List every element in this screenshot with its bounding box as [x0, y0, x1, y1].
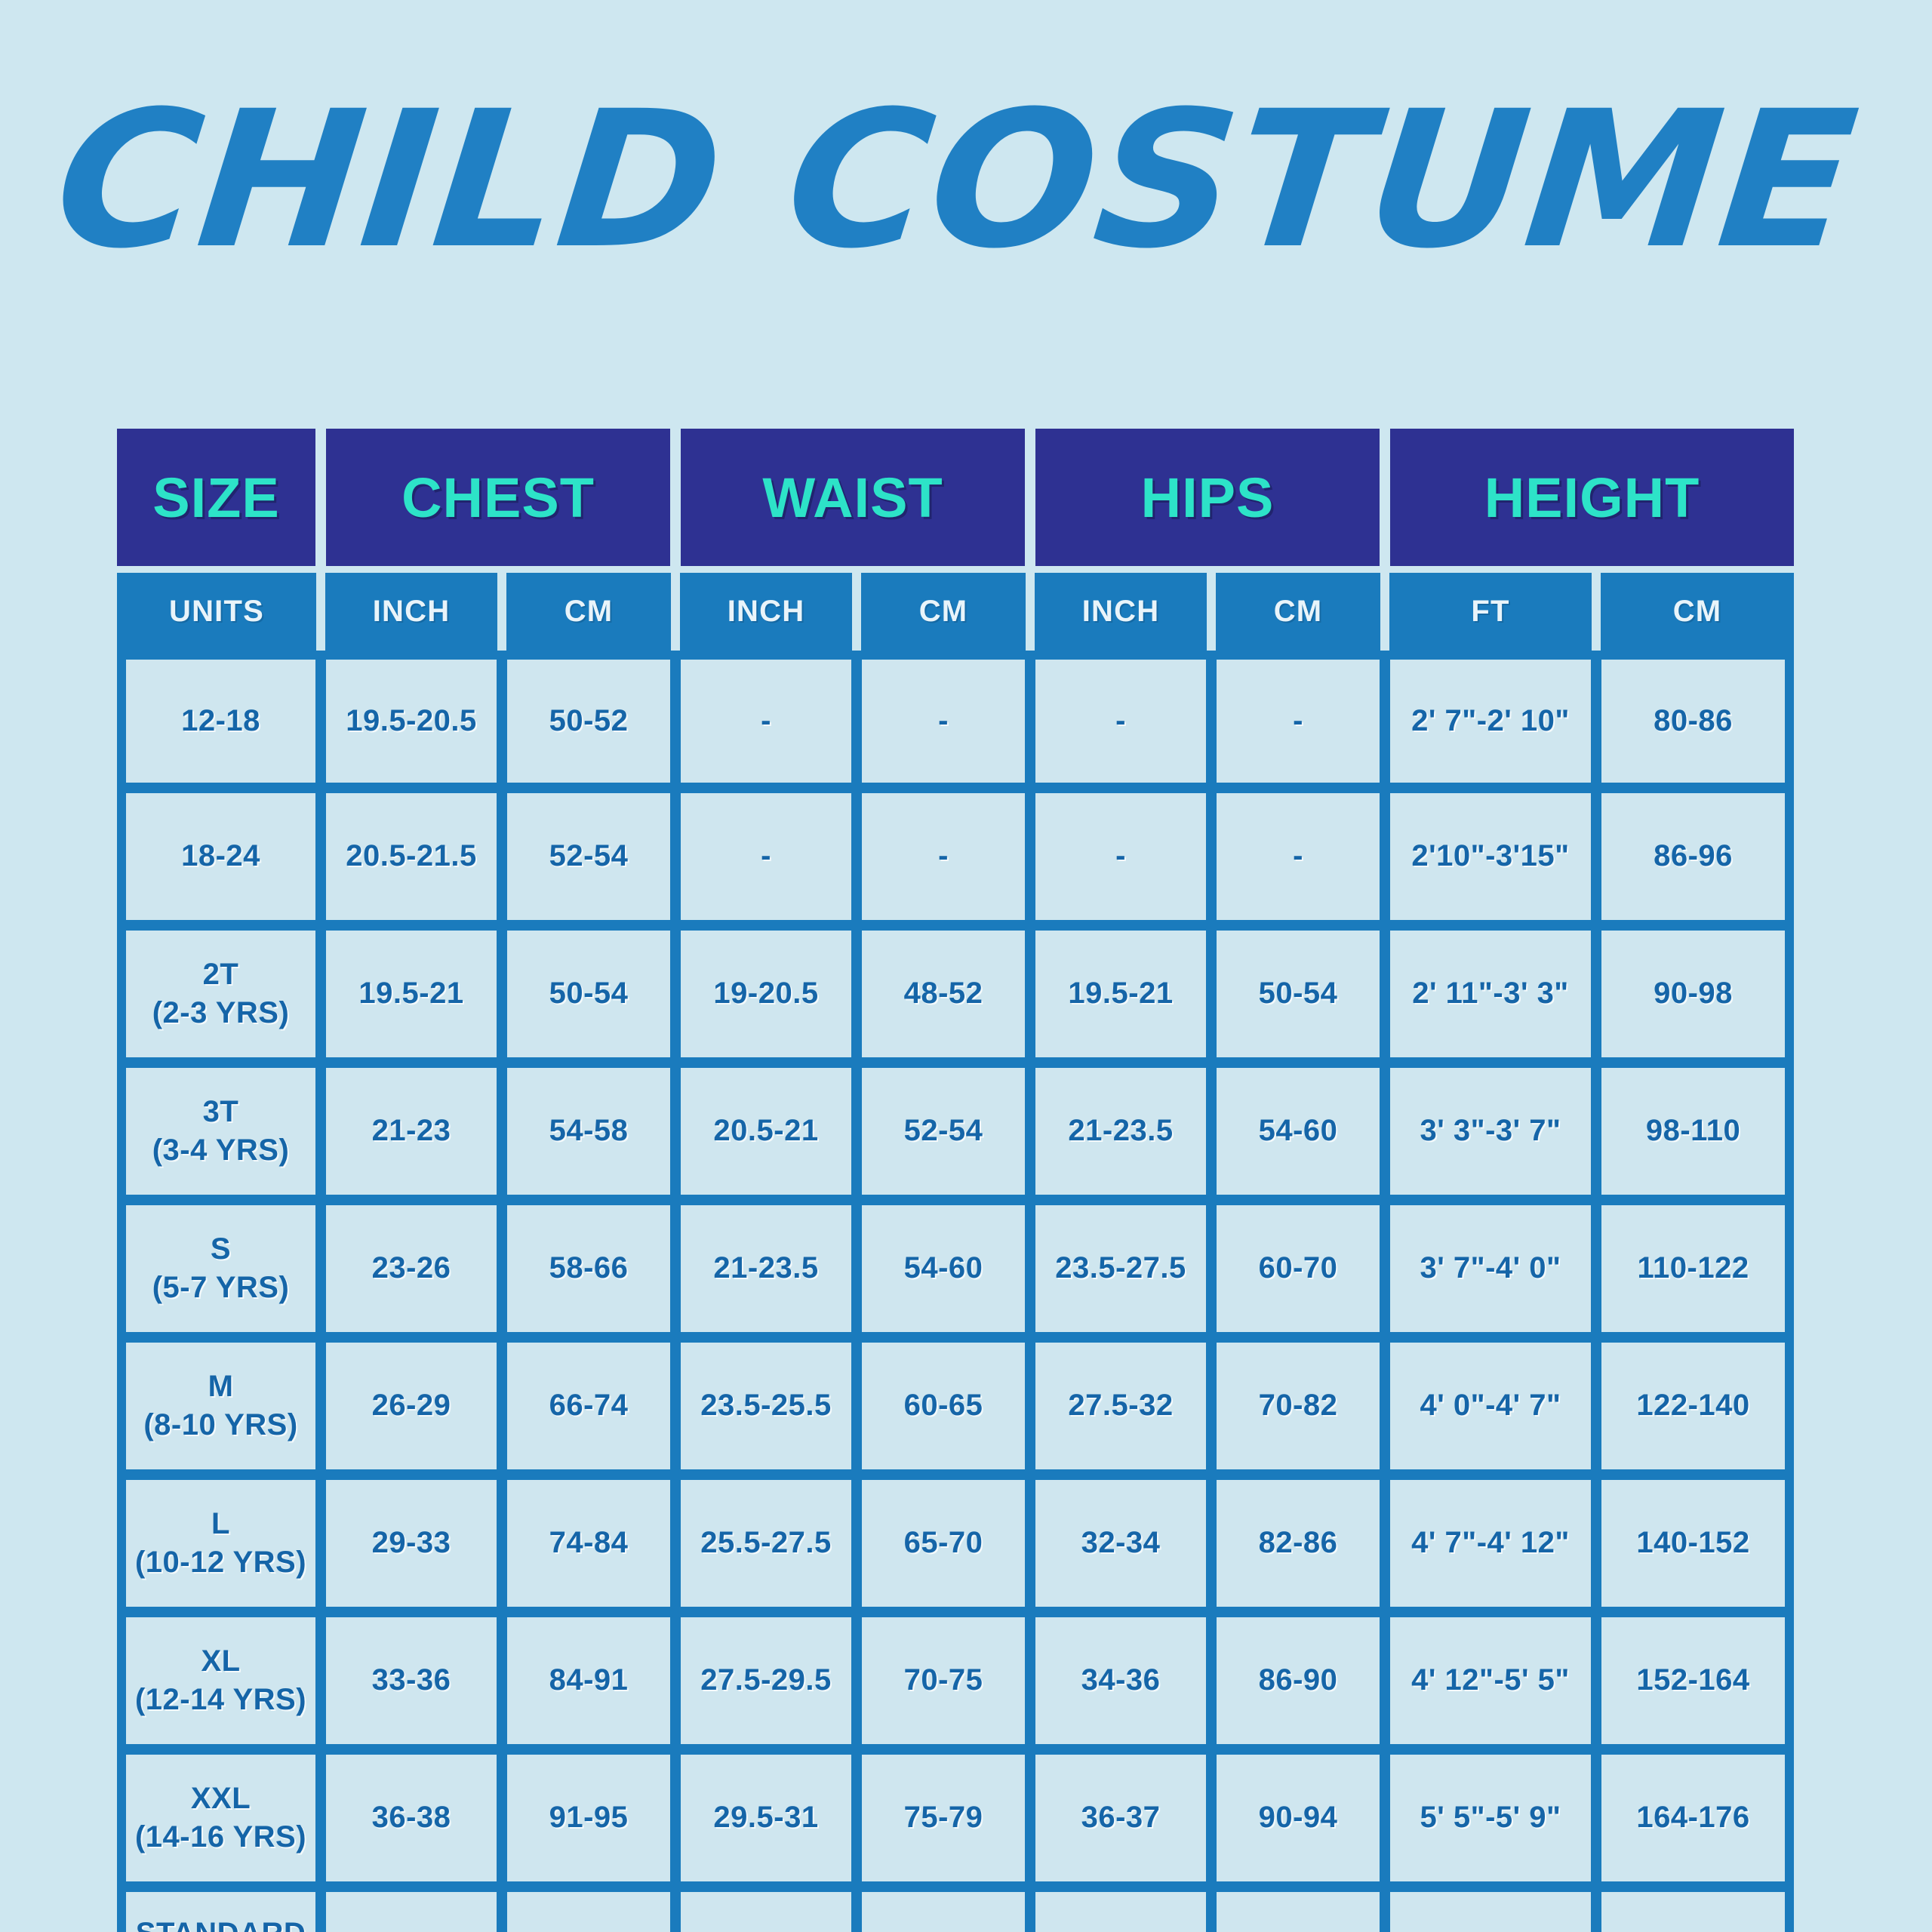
cell-waist-cm: 60-65 — [857, 1337, 1030, 1475]
cell-chest-inch: 19.5-21 — [321, 925, 502, 1063]
size-label-age: (12-14 YRS) — [126, 1681, 315, 1719]
table-row: 18-2420.5-21.552-54----2'10"-3'15"86-96 — [117, 788, 1794, 925]
cell-height-cm: 86-96 — [1596, 788, 1794, 925]
cell-hips-inch: - — [1030, 788, 1211, 925]
cell-chest-cm: 59-80 — [502, 1887, 675, 1932]
cell-height-ft: 3' 7"-4' 0" — [1385, 1200, 1596, 1337]
cell-waist-cm: 70-75 — [857, 1612, 1030, 1749]
cell-chest-inch: 33-36 — [321, 1612, 502, 1749]
cell-height-cm: 90-98 — [1596, 925, 1794, 1063]
cell-waist-inch: 19-20.5 — [675, 925, 857, 1063]
cell-chest-inch: 19.5-20.5 — [321, 651, 502, 788]
size-label-age: (2-3 YRS) — [126, 994, 315, 1032]
cell-height-ft: 5' 5"-4' 11" — [1385, 1887, 1596, 1932]
table-row: XXL(14-16 YRS)36-3891-9529.5-3175-7936-3… — [117, 1749, 1794, 1887]
group-header-row: SIZE CHEST WAIST HIPS HEIGHT — [117, 429, 1794, 566]
cell-waist-cm: 75-79 — [857, 1749, 1030, 1887]
cell-waist-inch: 23.5-25.5 — [675, 1337, 857, 1475]
cell-hips-cm: 86-90 — [1211, 1612, 1385, 1749]
cell-hips-cm: - — [1211, 651, 1385, 788]
table-row: 12-1819.5-20.550-52----2' 7"-2' 10"80-86 — [117, 651, 1794, 788]
cell-size: 12-18 — [117, 651, 321, 788]
cell-hips-inch: 34-36 — [1030, 1612, 1211, 1749]
table-row: M(8-10 YRS)26-2966-7423.5-25.560-6527.5-… — [117, 1337, 1794, 1475]
cell-size: 3T(3-4 YRS) — [117, 1063, 321, 1200]
cell-size: XL(12-14 YRS) — [117, 1612, 321, 1749]
cell-size: 2T(2-3 YRS) — [117, 925, 321, 1063]
unit-header-height-ft: FT — [1385, 566, 1596, 651]
cell-chest-inch: 21-23 — [321, 1063, 502, 1200]
cell-size: M(8-10 YRS) — [117, 1337, 321, 1475]
cell-waist-cm: - — [857, 651, 1030, 788]
group-header-size: SIZE — [117, 429, 321, 566]
size-label-main: 3T — [126, 1093, 315, 1131]
group-header-height: HEIGHT — [1385, 429, 1794, 566]
cell-height-ft: 4' 7"-4' 12" — [1385, 1475, 1596, 1612]
cell-chest-inch: 36-38 — [321, 1749, 502, 1887]
cell-size: STANDARD(5-12 YRS) — [117, 1887, 321, 1932]
cell-chest-inch: 29-33 — [321, 1475, 502, 1612]
size-label-main: 2T — [126, 955, 315, 994]
cell-height-cm: 110-122 — [1596, 1200, 1794, 1337]
cell-size: XXL(14-16 YRS) — [117, 1749, 321, 1887]
units-header-row: UNITS INCH CM INCH CM INCH CM FT CM — [117, 566, 1794, 651]
cell-hips-inch: 32-34 — [1030, 1475, 1211, 1612]
cell-waist-inch: - — [675, 788, 857, 925]
cell-height-ft: 2' 7"-2' 10" — [1385, 651, 1596, 788]
cell-hips-cm: 50-54 — [1211, 925, 1385, 1063]
cell-chest-cm: 50-52 — [502, 651, 675, 788]
cell-waist-inch: 21.5-26.5 — [675, 1887, 857, 1932]
title-brush-lettering: CHILD COSTUME — [53, 83, 1879, 294]
size-chart-page: CHILD COSTUME SIZE CHEST WAIST — [0, 0, 1932, 1932]
cell-height-ft: 2' 11"-3' 3" — [1385, 925, 1596, 1063]
size-label-main: M — [126, 1367, 315, 1406]
cell-hips-cm: 90-94 — [1211, 1749, 1385, 1887]
unit-header-hips-cm: CM — [1211, 566, 1385, 651]
cell-hips-cm: - — [1211, 788, 1385, 925]
cell-height-ft: 3' 3"-3' 7" — [1385, 1063, 1596, 1200]
page-title: CHILD COSTUME — [0, 75, 1932, 302]
size-label-age: (10-12 YRS) — [126, 1543, 315, 1582]
cell-waist-cm: 55-68 — [857, 1887, 1030, 1932]
table-row: 2T(2-3 YRS)19.5-2150-5419-20.548-5219.5-… — [117, 925, 1794, 1063]
cell-chest-inch: 23-26 — [321, 1200, 502, 1337]
cell-waist-cm: 65-70 — [857, 1475, 1030, 1612]
size-label-age: (5-7 YRS) — [126, 1269, 315, 1307]
cell-hips-cm: 54-60 — [1211, 1063, 1385, 1200]
cell-hips-inch: 21-23.5 — [1030, 1063, 1211, 1200]
table-row: 3T(3-4 YRS)21-2354-5820.5-2152-5421-23.5… — [117, 1063, 1794, 1200]
cell-hips-cm: 82-86 — [1211, 1475, 1385, 1612]
cell-chest-cm: 54-58 — [502, 1063, 675, 1200]
table-row: STANDARD(5-12 YRS)23-3159-8021.5-26.555-… — [117, 1887, 1794, 1932]
cell-chest-cm: 84-91 — [502, 1612, 675, 1749]
size-label-age: (8-10 YRS) — [126, 1406, 315, 1444]
cell-height-ft: 5' 5"-5' 9" — [1385, 1749, 1596, 1887]
group-header-chest: CHEST — [321, 429, 675, 566]
table-row: XL(12-14 YRS)33-3684-9127.5-29.570-7534-… — [117, 1612, 1794, 1749]
cell-hips-inch: - — [1030, 651, 1211, 788]
unit-header-units: UNITS — [117, 566, 321, 651]
cell-chest-cm: 91-95 — [502, 1749, 675, 1887]
cell-hips-cm: 70-82 — [1211, 1337, 1385, 1475]
size-label-age: (14-16 YRS) — [126, 1818, 315, 1857]
unit-header-chest-inch: INCH — [321, 566, 502, 651]
cell-chest-cm: 66-74 — [502, 1337, 675, 1475]
cell-height-cm: 164-176 — [1596, 1749, 1794, 1887]
cell-hips-cm: 64-86 — [1211, 1887, 1385, 1932]
size-label-main: 12-18 — [126, 702, 315, 740]
cell-chest-cm: 58-66 — [502, 1200, 675, 1337]
cell-height-cm: 80-86 — [1596, 651, 1794, 788]
unit-header-waist-inch: INCH — [675, 566, 857, 651]
cell-waist-cm: 54-60 — [857, 1200, 1030, 1337]
cell-hips-inch: 25-34 — [1030, 1887, 1211, 1932]
cell-chest-inch: 26-29 — [321, 1337, 502, 1475]
cell-waist-inch: 21-23.5 — [675, 1200, 857, 1337]
table-row: L(10-12 YRS)29-3374-8425.5-27.565-7032-3… — [117, 1475, 1794, 1612]
cell-chest-inch: 23-31 — [321, 1887, 502, 1932]
unit-header-height-cm: CM — [1596, 566, 1794, 651]
size-label-age: (3-4 YRS) — [126, 1131, 315, 1170]
table-row: S(5-7 YRS)23-2658-6621-23.554-6023.5-27.… — [117, 1200, 1794, 1337]
size-chart-table: SIZE CHEST WAIST HIPS HEIGHT UNITS INCH … — [117, 429, 1794, 1932]
cell-height-ft: 4' 12"-5' 5" — [1385, 1612, 1596, 1749]
cell-waist-inch: 29.5-31 — [675, 1749, 857, 1887]
cell-height-ft: 4' 0"-4' 7" — [1385, 1337, 1596, 1475]
cell-hips-cm: 60-70 — [1211, 1200, 1385, 1337]
cell-hips-inch: 23.5-27.5 — [1030, 1200, 1211, 1337]
cell-size: 18-24 — [117, 788, 321, 925]
cell-hips-inch: 36-37 — [1030, 1749, 1211, 1887]
cell-chest-inch: 20.5-21.5 — [321, 788, 502, 925]
cell-height-cm: 110-150 — [1596, 1887, 1794, 1932]
cell-height-ft: 2'10"-3'15" — [1385, 788, 1596, 925]
cell-waist-cm: - — [857, 788, 1030, 925]
cell-height-cm: 122-140 — [1596, 1337, 1794, 1475]
unit-header-hips-inch: INCH — [1030, 566, 1211, 651]
size-label-main: STANDARD — [126, 1915, 315, 1932]
cell-waist-inch: 25.5-27.5 — [675, 1475, 857, 1612]
group-header-waist: WAIST — [675, 429, 1030, 566]
size-label-main: L — [126, 1505, 315, 1543]
cell-size: S(5-7 YRS) — [117, 1200, 321, 1337]
title-label: CHILD COSTUME — [53, 83, 1866, 291]
size-chart-body: 12-1819.5-20.550-52----2' 7"-2' 10"80-86… — [117, 651, 1794, 1932]
size-label-main: XXL — [126, 1780, 315, 1818]
cell-chest-cm: 50-54 — [502, 925, 675, 1063]
cell-waist-cm: 52-54 — [857, 1063, 1030, 1200]
cell-height-cm: 140-152 — [1596, 1475, 1794, 1612]
size-label-main: S — [126, 1230, 315, 1269]
unit-header-waist-cm: CM — [857, 566, 1030, 651]
cell-waist-inch: 20.5-21 — [675, 1063, 857, 1200]
size-label-main: 18-24 — [126, 837, 315, 875]
cell-waist-inch: - — [675, 651, 857, 788]
cell-size: L(10-12 YRS) — [117, 1475, 321, 1612]
cell-height-cm: 98-110 — [1596, 1063, 1794, 1200]
size-label-main: XL — [126, 1642, 315, 1681]
unit-header-chest-cm: CM — [502, 566, 675, 651]
cell-hips-inch: 27.5-32 — [1030, 1337, 1211, 1475]
group-header-hips: HIPS — [1030, 429, 1385, 566]
cell-height-cm: 152-164 — [1596, 1612, 1794, 1749]
cell-chest-cm: 52-54 — [502, 788, 675, 925]
cell-waist-inch: 27.5-29.5 — [675, 1612, 857, 1749]
cell-chest-cm: 74-84 — [502, 1475, 675, 1612]
size-chart-table-wrap: SIZE CHEST WAIST HIPS HEIGHT UNITS INCH … — [117, 429, 1794, 1932]
cell-hips-inch: 19.5-21 — [1030, 925, 1211, 1063]
cell-waist-cm: 48-52 — [857, 925, 1030, 1063]
